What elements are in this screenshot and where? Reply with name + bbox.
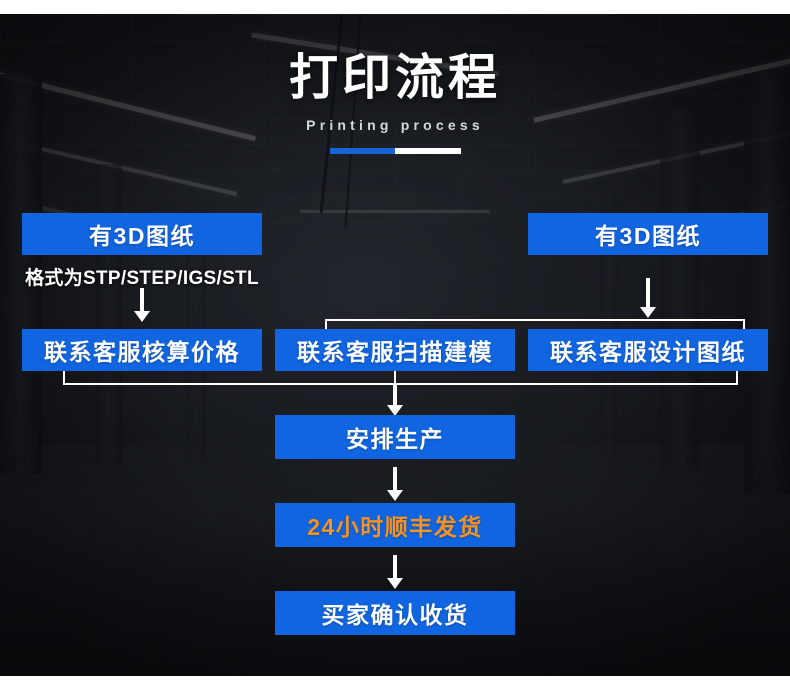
arrow-down-left-top [134, 288, 150, 322]
bottom-white-margin [0, 676, 790, 696]
arrow-down-to-shipping [387, 467, 403, 501]
flow-box-24h-sf-express-shipping[interactable]: 24小时顺丰发货 [275, 503, 515, 547]
arrow-down-right-top [640, 278, 656, 318]
flow-box-has-3d-drawing-left[interactable]: 有3D图纸 [22, 213, 262, 255]
flow-chart: 有3D图纸 格式为STP/STEP/IGS/STL 有3D图纸 联系客服核算价格… [0, 0, 790, 696]
flow-box-has-3d-drawing-right[interactable]: 有3D图纸 [528, 213, 768, 255]
flow-box-contact-service-scan-model[interactable]: 联系客服扫描建模 [275, 329, 515, 371]
printing-process-infographic: 打印流程 Printing process 有3D图纸 格式为STP/STEP/… [0, 0, 790, 696]
flow-box-buyer-confirm-receipt[interactable]: 买家确认收货 [275, 591, 515, 635]
flow-box-contact-service-design-drawing[interactable]: 联系客服设计图纸 [528, 329, 768, 371]
arrow-down-to-buyer-confirm [387, 555, 403, 589]
flow-box-contact-service-quote[interactable]: 联系客服核算价格 [22, 329, 262, 371]
flow-caption-file-formats: 格式为STP/STEP/IGS/STL [22, 263, 262, 290]
connector-rail-upper [325, 319, 745, 321]
top-white-margin [0, 0, 790, 14]
arrow-down-to-production [387, 383, 403, 416]
flow-box-arrange-production[interactable]: 安排生产 [275, 415, 515, 459]
